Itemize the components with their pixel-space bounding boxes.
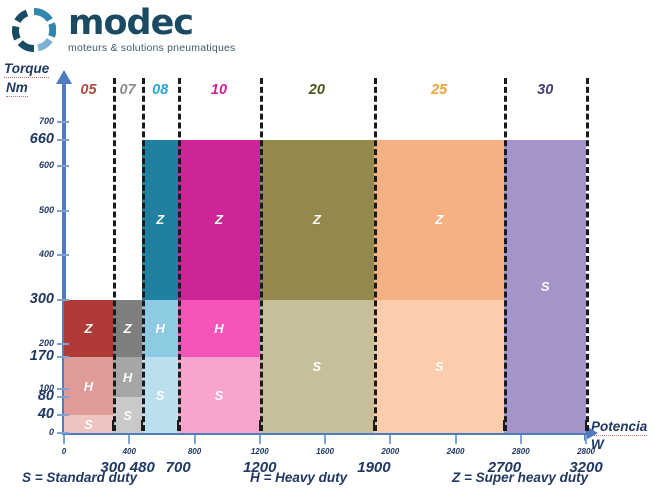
y-tick-label: 80 xyxy=(0,388,54,404)
x-tick-minor xyxy=(585,435,587,444)
x-tick-major xyxy=(141,420,143,431)
duty-label: Z xyxy=(84,321,92,336)
bar-segment: Z xyxy=(374,140,505,300)
duty-label: Z xyxy=(435,212,443,227)
category-boundary-line xyxy=(374,78,377,431)
ring-segments-icon xyxy=(12,8,56,52)
y-tick xyxy=(57,299,69,301)
bar-segment: S xyxy=(64,415,113,433)
x-tick-minor xyxy=(63,435,65,444)
x-tick-minor xyxy=(520,435,522,444)
y-tick xyxy=(57,432,69,434)
category-boundary-line xyxy=(142,78,145,431)
x-tick-label-minor: 2800 xyxy=(566,447,606,456)
duty-label: H xyxy=(214,321,223,336)
x-tick-major xyxy=(112,420,114,431)
bar-segment: H xyxy=(113,357,142,397)
bar-segment: Z xyxy=(178,140,260,300)
x-tick-minor xyxy=(194,435,196,444)
y-tick xyxy=(57,356,69,358)
duty-label: Z xyxy=(124,321,132,336)
x-tick-minor xyxy=(455,435,457,444)
x-tick-label-major: 1900 xyxy=(348,459,400,476)
y-tick xyxy=(57,396,69,398)
y-tick-label: 600 xyxy=(0,160,54,170)
bar-segment: S xyxy=(113,397,142,433)
bar-segment: Z xyxy=(113,300,142,358)
category-boundary-line xyxy=(178,78,181,431)
x-tick-major xyxy=(259,420,261,431)
duty-label: Z xyxy=(215,212,223,227)
bar-segment: Z xyxy=(260,140,374,300)
chart-plot-area: ZHSZHSZHSZHSZSZSS 7006005004002001000660… xyxy=(0,60,654,440)
x-tick-label-minor: 1600 xyxy=(305,447,345,456)
duty-label: H xyxy=(84,379,93,394)
x-tick-label-minor: 1200 xyxy=(240,447,280,456)
category-label-10: 10 xyxy=(178,82,260,98)
brand-tagline: moteurs & solutions pneumatiques xyxy=(68,42,236,54)
y-tick xyxy=(57,139,69,141)
bar-segment: Z xyxy=(142,140,178,300)
x-tick-major xyxy=(373,420,375,431)
y-tick-label: 170 xyxy=(0,348,54,364)
category-boundary-line xyxy=(113,78,116,431)
y-tick xyxy=(57,165,69,167)
category-label-30: 30 xyxy=(504,82,586,98)
brand-logo: modec moteurs & solutions pneumatiques xyxy=(12,6,262,52)
y-tick xyxy=(57,121,69,123)
x-tick-label-major: 700 xyxy=(152,459,204,476)
y-tick-label: 500 xyxy=(0,205,54,215)
bar-segment: H xyxy=(178,300,260,358)
category-boundary-line xyxy=(260,78,263,431)
category-label-25: 25 xyxy=(374,82,505,98)
y-tick-label: 300 xyxy=(0,291,54,307)
bar-segment: H xyxy=(64,357,113,415)
duty-label: S xyxy=(215,388,224,403)
x-tick-label-minor: 2000 xyxy=(370,447,410,456)
x-tick-label-minor: 0 xyxy=(44,447,84,456)
duty-label: S xyxy=(541,279,550,294)
y-tick xyxy=(57,388,69,390)
bar-segment: S xyxy=(142,357,178,433)
y-tick-label: 200 xyxy=(0,338,54,348)
y-tick xyxy=(57,414,69,416)
legend-super-heavy-duty: Z = Super heavy duty xyxy=(452,470,588,485)
category-boundary-line xyxy=(504,78,507,431)
x-tick-major xyxy=(177,420,179,431)
x-tick-minor xyxy=(389,435,391,444)
x-tick-minor xyxy=(324,435,326,444)
duty-label: S xyxy=(156,388,165,403)
duty-label: S xyxy=(123,408,132,423)
x-tick-major xyxy=(585,420,587,431)
duty-label: Z xyxy=(313,212,321,227)
category-boundary-line xyxy=(586,78,589,431)
x-tick-major xyxy=(503,420,505,431)
bar-segment: S xyxy=(504,140,586,433)
bar-segment: H xyxy=(142,300,178,358)
x-tick-label-minor: 800 xyxy=(175,447,215,456)
y-tick-label: 400 xyxy=(0,249,54,259)
y-tick xyxy=(57,343,69,345)
x-tick-label-minor: 2800 xyxy=(501,447,541,456)
legend-standard-duty: S = Standard duty xyxy=(22,470,137,485)
x-tick-label-minor: 2400 xyxy=(436,447,476,456)
category-label-20: 20 xyxy=(260,82,374,98)
duty-label: S xyxy=(435,359,444,374)
x-tick-minor xyxy=(259,435,261,444)
duty-label: Z xyxy=(156,212,164,227)
bar-segment: S xyxy=(178,357,260,433)
x-tick-label-minor: 400 xyxy=(109,447,149,456)
duty-label: H xyxy=(156,321,165,336)
y-tick xyxy=(57,210,69,212)
bar-segment: S xyxy=(374,300,505,433)
brand-name: modec xyxy=(68,6,236,41)
duty-label: S xyxy=(84,417,93,432)
y-tick xyxy=(57,254,69,256)
category-label-07: 07 xyxy=(113,82,142,98)
category-label-08: 08 xyxy=(142,82,178,98)
category-label-05: 05 xyxy=(64,82,113,98)
duty-label: H xyxy=(123,370,132,385)
duty-label: S xyxy=(313,359,322,374)
y-tick-label: 700 xyxy=(0,116,54,126)
legend-heavy-duty: H = Heavy duty xyxy=(250,470,347,485)
bar-segment: Z xyxy=(64,300,113,358)
bar-segment: S xyxy=(260,300,374,433)
y-tick-label: 0 xyxy=(0,427,54,437)
x-tick-minor xyxy=(128,435,130,444)
y-tick-label: 40 xyxy=(0,406,54,422)
y-tick-label: 660 xyxy=(0,131,54,147)
